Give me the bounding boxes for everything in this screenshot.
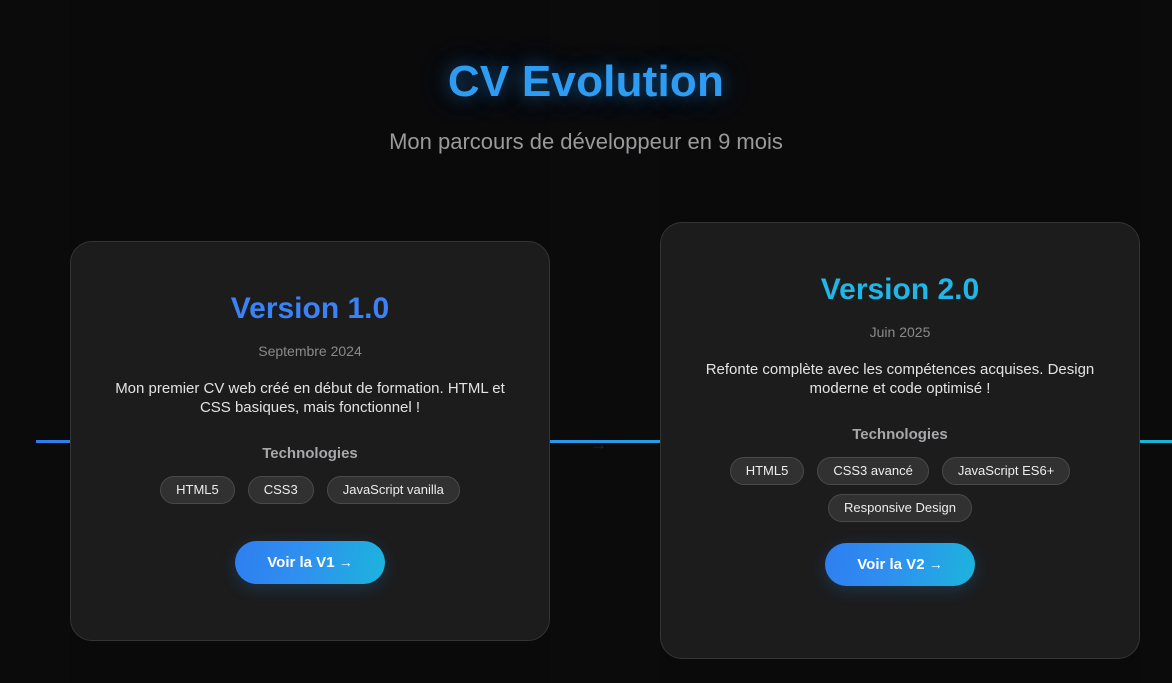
arrow-right-icon: → [339, 554, 353, 570]
technologies-list-v2: HTML5 CSS3 avancé JavaScript ES6+ Respon… [700, 457, 1100, 522]
view-v2-button[interactable]: Voir la V2 → [825, 543, 974, 586]
card-date-v2: Juin 2025 [661, 324, 1139, 340]
page-title: CV Evolution [0, 58, 1172, 106]
card-action-wrap-v1: Voir la V1 → [71, 541, 549, 584]
tech-pill: JavaScript vanilla [327, 476, 460, 504]
view-v2-button-label: Voir la V2 [857, 556, 928, 573]
card-date-v1: Septembre 2024 [71, 343, 549, 359]
tech-pill: CSS3 [248, 476, 314, 504]
page-subtitle: Mon parcours de développeur en 9 mois [0, 129, 1172, 155]
technologies-label-v2: Technologies [661, 426, 1139, 443]
tech-pill: Responsive Design [828, 494, 972, 522]
tech-pill: HTML5 [160, 476, 235, 504]
card-title-v1: Version 1.0 [71, 292, 549, 327]
arrow-right-icon: → [590, 436, 606, 453]
view-v1-button-label: Voir la V1 [267, 554, 338, 571]
card-action-wrap-v2: Voir la V2 → [661, 543, 1139, 586]
page-header: CV Evolution Mon parcours de développeur… [0, 0, 1172, 155]
technologies-list-v1: HTML5 CSS3 JavaScript vanilla [110, 476, 510, 504]
version-card-v1: Version 1.0 Septembre 2024 Mon premier C… [70, 241, 550, 641]
tech-pill: HTML5 [730, 457, 805, 485]
card-description-v2: Refonte complète avec les compétences ac… [700, 360, 1100, 398]
card-title-v2: Version 2.0 [661, 273, 1139, 308]
tech-pill: JavaScript ES6+ [942, 457, 1070, 485]
tech-pill: CSS3 avancé [817, 457, 929, 485]
technologies-label-v1: Technologies [71, 445, 549, 462]
view-v1-button[interactable]: Voir la V1 → [235, 541, 384, 584]
card-description-v1: Mon premier CV web créé en début de form… [110, 379, 510, 417]
arrow-right-icon: → [929, 556, 943, 572]
version-card-v2: Version 2.0 Juin 2025 Refonte complète a… [660, 222, 1140, 659]
